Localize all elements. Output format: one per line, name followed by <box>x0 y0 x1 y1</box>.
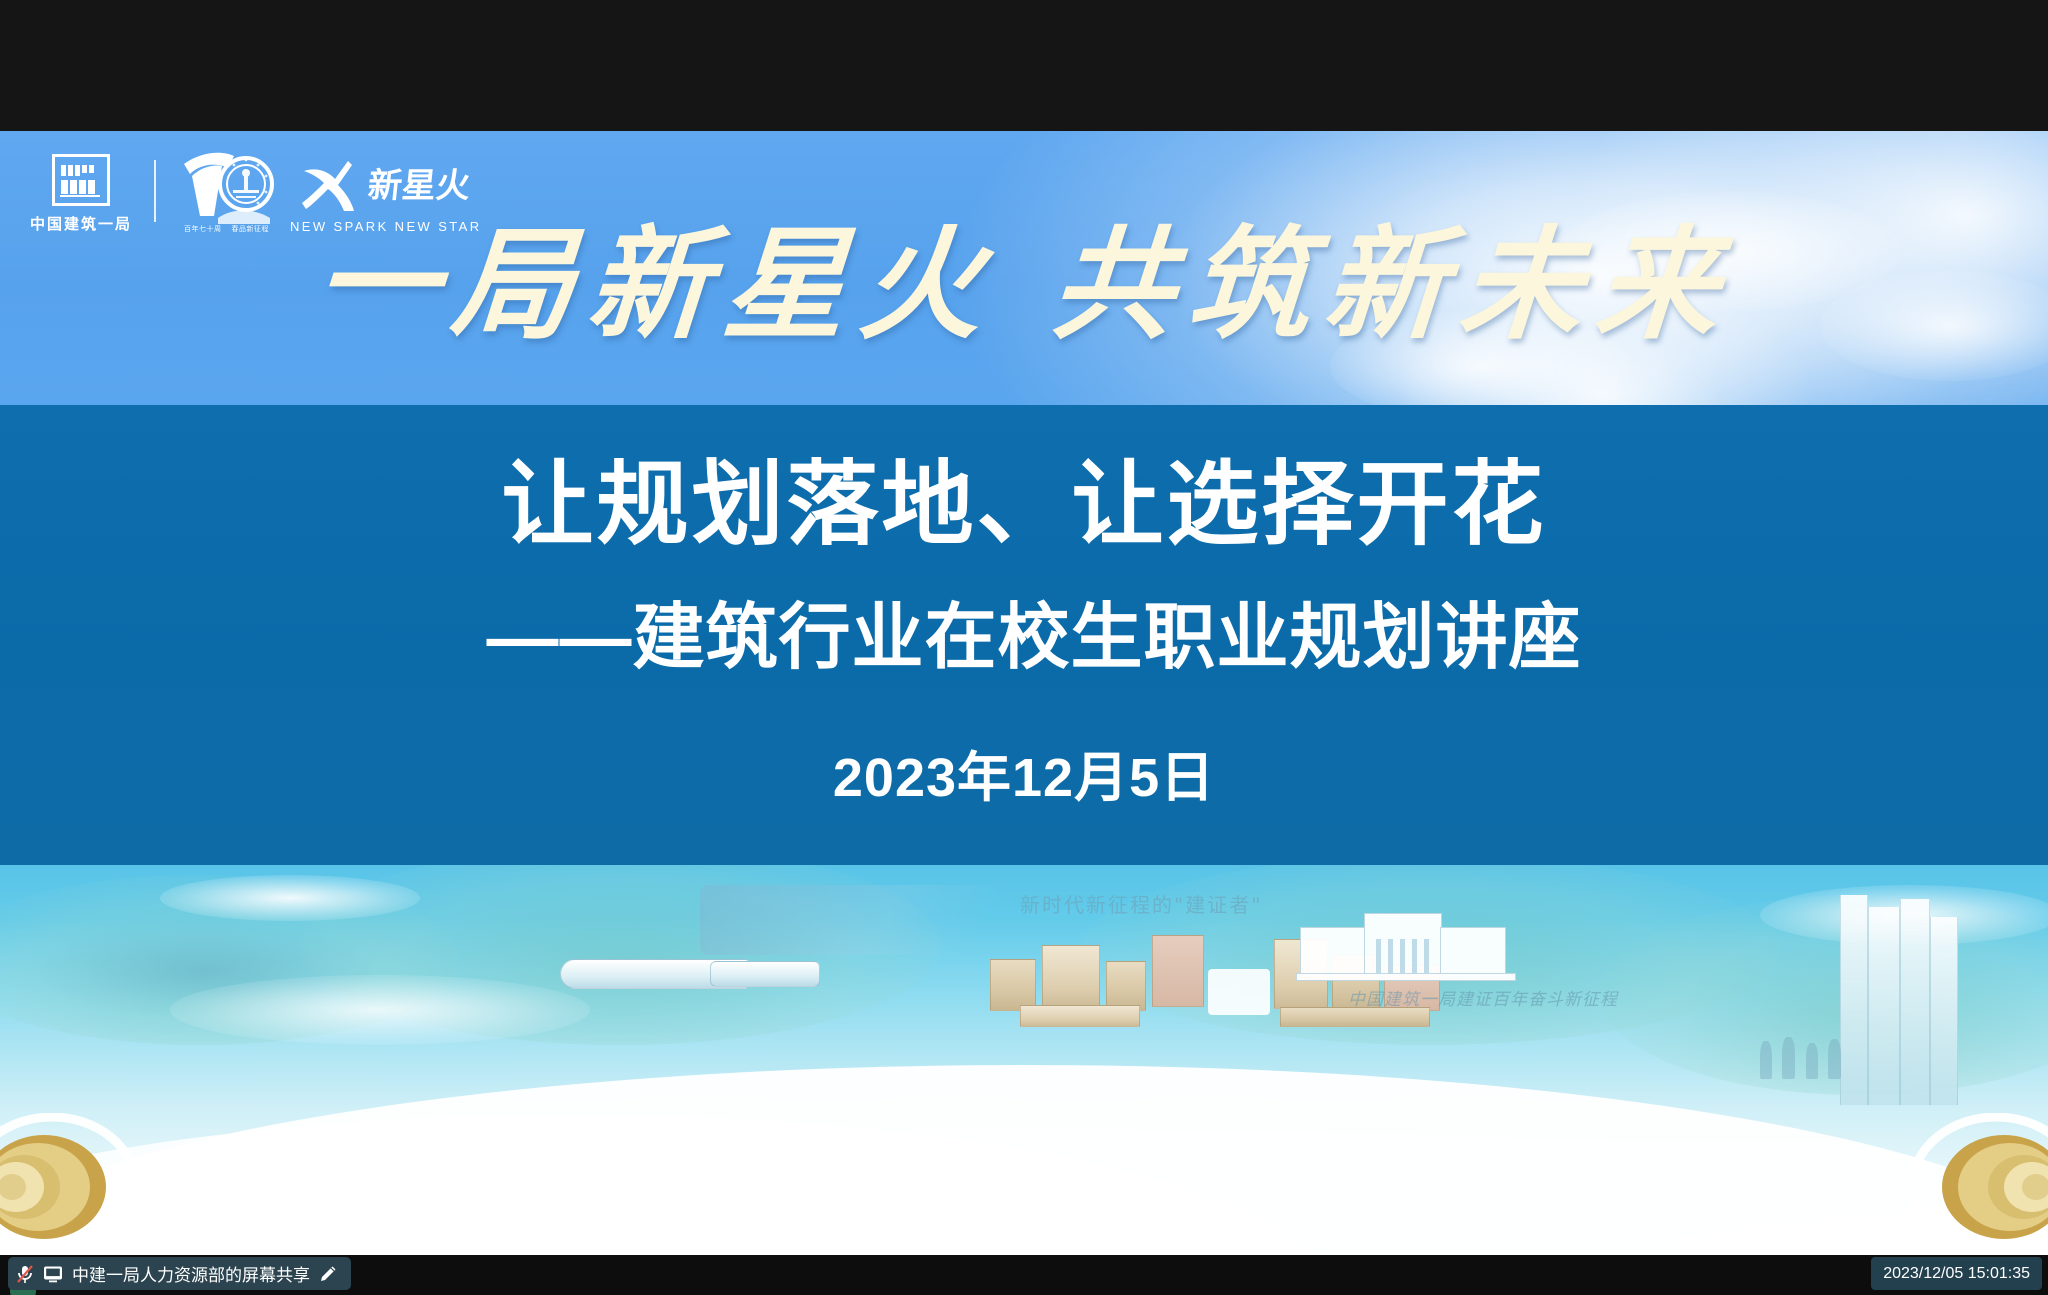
slide-date: 2023年12月5日 <box>0 733 2048 812</box>
screen-share-icon[interactable] <box>43 1265 63 1283</box>
people-silhouette <box>1828 1039 1841 1079</box>
solar-panel-field <box>700 885 1000 955</box>
anniversary-caption-right: 春品新征程 <box>232 224 270 234</box>
slide-illustration: 新时代新征程的"建证者" 中国建筑一局建证百年奋斗新征程 <box>0 865 2048 1255</box>
new-spark-cn-text: 新星火 <box>366 169 472 203</box>
pencil-annotate-icon[interactable] <box>319 1265 337 1283</box>
new-spark-en-text: NEW SPARK NEW STAR <box>290 219 482 234</box>
screen-share-viewer: 中国建筑一局 <box>0 0 2048 1295</box>
logo-divider <box>154 160 156 222</box>
ink-wash <box>170 975 590 1045</box>
new-spark-star-icon: 新星火 <box>302 159 470 213</box>
people-silhouette <box>1760 1041 1772 1079</box>
anniversary-captions: 百年七十周 春品新征程 <box>184 224 269 234</box>
ink-hill <box>0 875 460 1045</box>
scroll-roller-right-icon <box>1886 1113 2048 1255</box>
slide-subtitle: ——建筑行业在校生职业规划讲座 <box>0 601 2048 677</box>
banner-calligraphy: 一局新星火 共筑新未来 <box>0 223 2048 345</box>
shared-slide: 中国建筑一局 <box>0 131 2048 1255</box>
scroll-roller-left-icon <box>0 1113 162 1255</box>
new-spark-logo-block: 新星火 NEW SPARK NEW STAR <box>290 159 482 234</box>
70th-anniversary-icon: 百年七十周 春品新征程 <box>178 146 274 234</box>
share-status-pill[interactable]: 中建一局人力资源部的屏幕共享 <box>8 1257 351 1290</box>
modern-tower <box>1820 895 2000 1125</box>
slide-title: 让规划落地、让选择开花 <box>0 457 2048 554</box>
ink-hill <box>300 865 940 1045</box>
high-speed-train <box>560 945 810 1005</box>
timestamp-label: 2023/12/05 15:01:35 <box>1883 1265 2030 1283</box>
illustration-caption-center: 新时代新征程的"建证者" <box>1020 889 1262 918</box>
illustration-caption-right: 中国建筑一局建证百年奋斗新征程 <box>1348 985 1618 1010</box>
cscec-logo-block: 中国建筑一局 <box>30 154 132 234</box>
cscec-logo-icon <box>52 154 110 206</box>
timestamp-pill: 2023/12/05 15:01:35 <box>1871 1257 2042 1290</box>
cloud-shape <box>160 875 420 921</box>
letterbox-top-bar <box>0 0 2048 131</box>
anniversary-caption-left: 百年七十周 <box>184 224 222 234</box>
wave-shape <box>0 1065 2048 1255</box>
cloud-shape <box>1760 885 2048 945</box>
ink-hill <box>1600 895 2048 1095</box>
cscec-company-name: 中国建筑一局 <box>30 213 132 234</box>
mic-muted-icon[interactable] <box>16 1264 34 1284</box>
people-silhouette <box>1806 1043 1818 1079</box>
share-status-label: 中建一局人力资源部的屏幕共享 <box>72 1261 310 1286</box>
people-silhouette <box>1782 1037 1795 1079</box>
classical-building <box>1300 913 1530 993</box>
ink-wash <box>40 925 370 1015</box>
slide-logo-row: 中国建筑一局 <box>30 146 482 234</box>
title-panel: 让规划落地、让选择开花 ——建筑行业在校生职业规划讲座 2023年12月5日 <box>0 405 2048 865</box>
